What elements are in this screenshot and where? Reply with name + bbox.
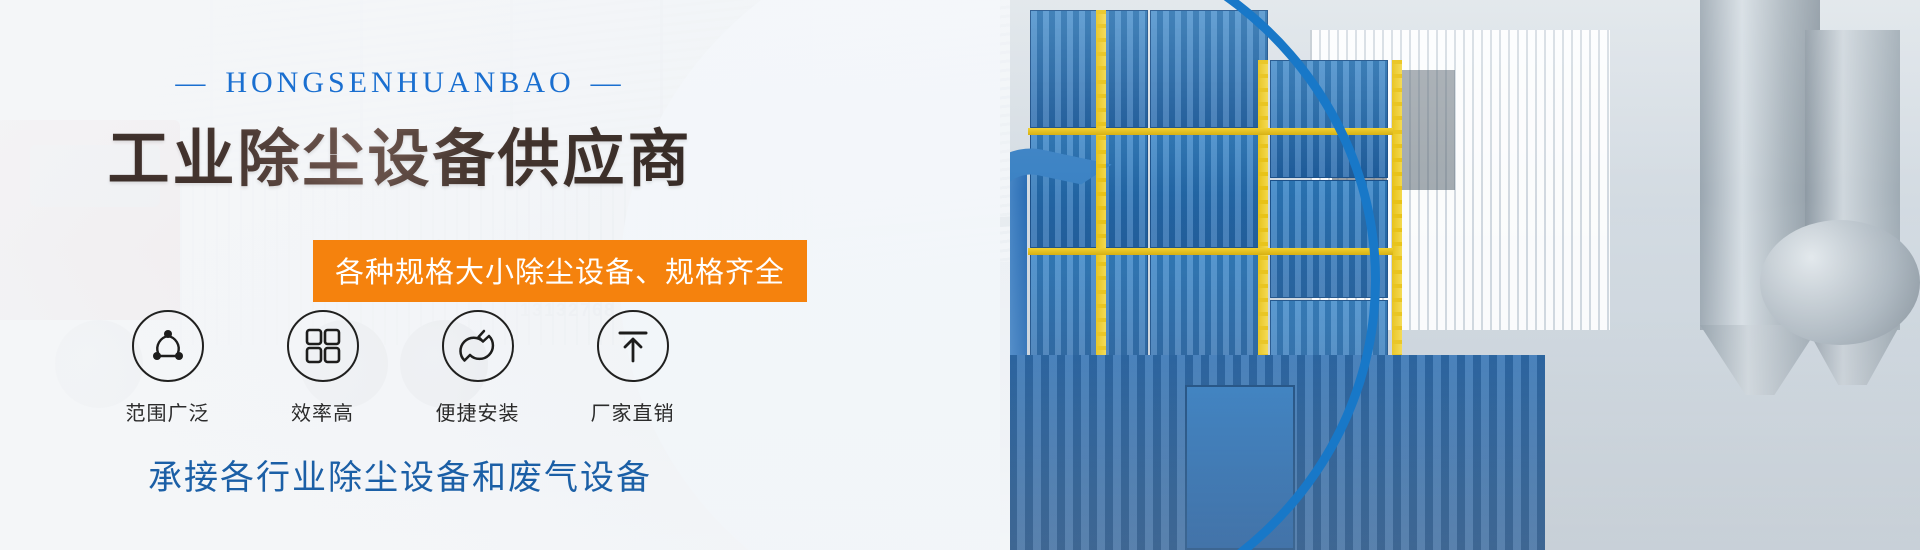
subtitle-orange-bar: 各种规格大小除尘设备、规格齐全 — [313, 240, 807, 302]
tagline: 承接各行业除尘设备和废气设备 — [0, 450, 800, 499]
eyebrow-dash-left: — — [175, 66, 209, 100]
feature-item-factory-direct[interactable]: 厂家直销 — [578, 310, 688, 426]
feature-label: 便捷安装 — [436, 397, 520, 426]
wrench-icon — [442, 310, 514, 382]
feature-item-install[interactable]: 便捷安装 — [423, 310, 533, 426]
feature-label: 范围广泛 — [126, 397, 210, 426]
eyebrow-text: HONGSENHUANBAO — [225, 66, 574, 99]
hero-banner: 保 13132768 —HONGSENHUANBAO— 工业除尘设备供应商 各种… — [0, 0, 1920, 550]
feature-label: 效率高 — [291, 397, 354, 426]
grid-squares-icon — [287, 310, 359, 382]
eyebrow-line: —HONGSENHUANBAO— — [0, 66, 800, 100]
feature-item-efficiency[interactable]: 效率高 — [268, 310, 378, 426]
eyebrow-dash-right: — — [591, 66, 625, 100]
network-nodes-icon — [132, 310, 204, 382]
hero-content: —HONGSENHUANBAO— 工业除尘设备供应商 各种规格大小除尘设备、规格… — [0, 0, 1010, 550]
feature-list: 范围广泛 效率高 — [0, 310, 800, 426]
page-title: 工业除尘设备供应商 — [0, 108, 800, 198]
feature-item-range[interactable]: 范围广泛 — [113, 310, 223, 426]
arrow-up-to-line-icon — [597, 310, 669, 382]
feature-label: 厂家直销 — [591, 397, 675, 426]
